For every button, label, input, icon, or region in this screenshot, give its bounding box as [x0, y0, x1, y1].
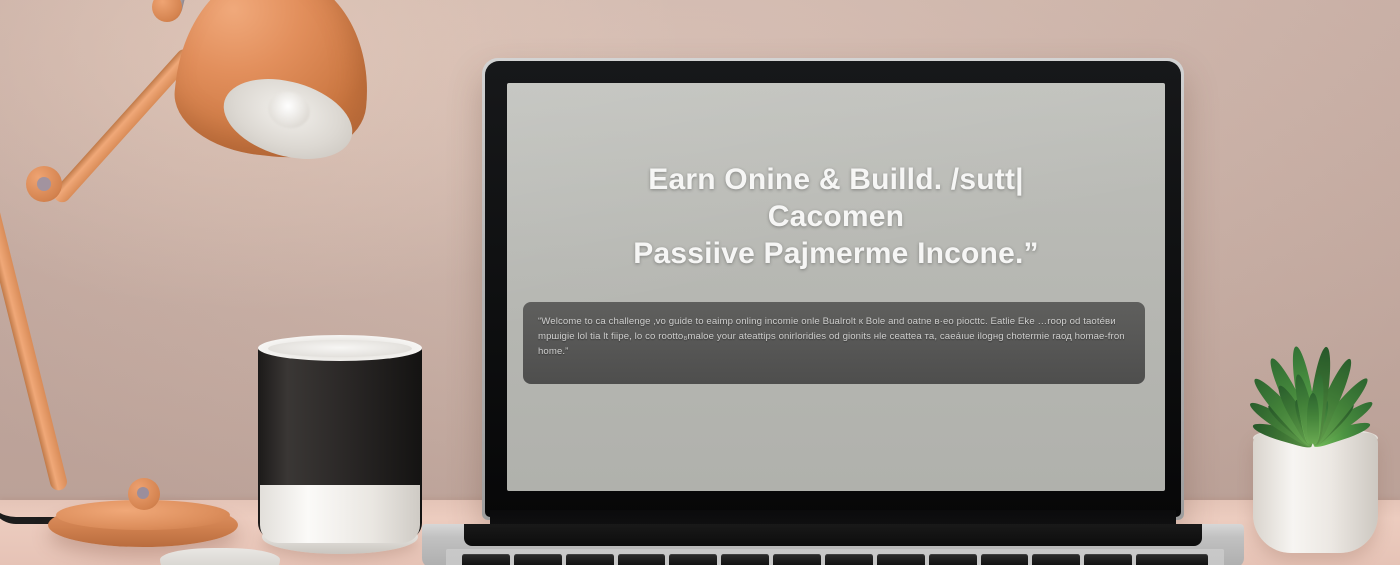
key-f3[interactable] — [618, 554, 666, 565]
key-f5[interactable] — [721, 554, 769, 565]
laptop-screen[interactable]: Earn Onine & Builld. /sutt| Cacomen Pass… — [507, 83, 1165, 491]
coffee-mug — [250, 335, 430, 565]
key-f2[interactable] — [566, 554, 614, 565]
key-f7[interactable] — [825, 554, 873, 565]
lamp-joint-pin — [37, 177, 51, 191]
keyboard-row — [462, 554, 1208, 565]
plant-pot — [1253, 433, 1378, 553]
laptop-keyboard[interactable] — [446, 549, 1224, 565]
key-f10[interactable] — [981, 554, 1029, 565]
desk-scene: Earn Onine & Builld. /sutt| Cacomen Pass… — [0, 0, 1400, 565]
screen-body-text: “Welcome to ca challenge ‚vo guide to ea… — [538, 314, 1130, 359]
lamp-joint-top — [152, 0, 182, 22]
key-f9[interactable] — [929, 554, 977, 565]
key-f12[interactable] — [1084, 554, 1132, 565]
key-f11[interactable] — [1032, 554, 1080, 565]
mug-white-base — [260, 485, 420, 543]
lamp-joint-middle — [26, 166, 62, 202]
key-f1[interactable] — [514, 554, 562, 565]
headline-line-3: Passiive Pajmerme Incone.” — [525, 235, 1147, 272]
laptop-hinge-lip — [464, 524, 1202, 546]
lamp-joint-pin — [137, 487, 149, 499]
headline-line-1: Earn Onine & Builld. /sutt| — [525, 161, 1147, 198]
laptop-lid: Earn Onine & Builld. /sutt| Cacomen Pass… — [482, 58, 1184, 520]
laptop: Earn Onine & Builld. /sutt| Cacomen Pass… — [482, 58, 1184, 565]
succulent-leaf — [1307, 393, 1319, 443]
key-esc[interactable] — [462, 554, 510, 565]
lamp-arm-lower — [0, 192, 69, 492]
potted-plant — [1225, 315, 1400, 565]
key-f8[interactable] — [877, 554, 925, 565]
screen-headline: Earn Onine & Builld. /sutt| Cacomen Pass… — [525, 161, 1147, 272]
screen-text-panel: “Welcome to ca challenge ‚vo guide to ea… — [523, 302, 1145, 384]
mug-interior — [268, 340, 412, 357]
headline-line-2: Cacomen — [525, 198, 1147, 235]
key-f4[interactable] — [669, 554, 717, 565]
lamp-arm-upper — [50, 46, 196, 206]
succulent-leaves — [1225, 343, 1400, 443]
mouse[interactable] — [160, 548, 280, 565]
lamp-joint-lower — [128, 478, 160, 510]
key-eject[interactable] — [1136, 554, 1208, 565]
laptop-bezel: Earn Onine & Builld. /sutt| Cacomen Pass… — [485, 61, 1181, 517]
key-f6[interactable] — [773, 554, 821, 565]
